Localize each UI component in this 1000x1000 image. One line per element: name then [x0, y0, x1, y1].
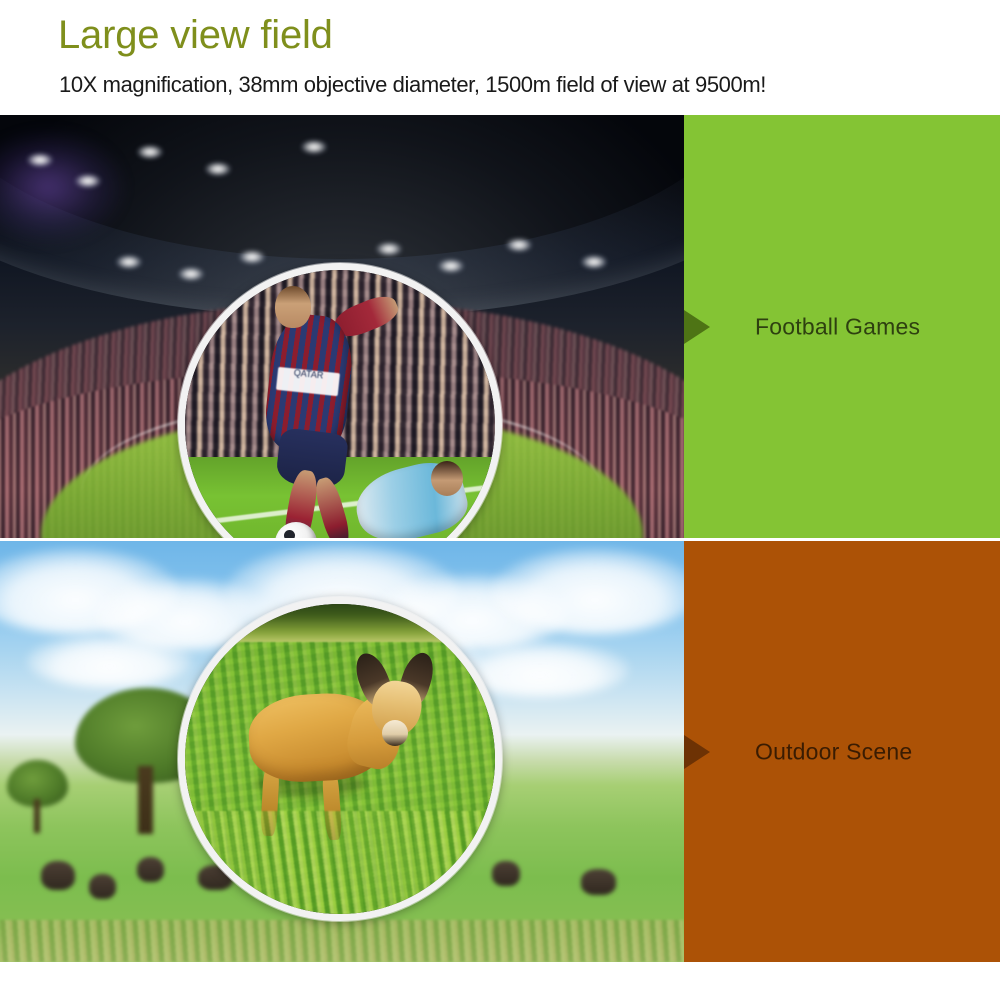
lens-foreground-grass	[178, 811, 502, 921]
arrow-right-icon	[684, 310, 710, 344]
grazing-animal	[137, 857, 164, 882]
floodlight	[116, 255, 142, 269]
defender-head	[431, 461, 463, 497]
magnified-lens-outdoor	[178, 597, 502, 921]
cloud	[27, 634, 191, 689]
lens-image-outdoor	[178, 597, 502, 921]
label-panel-outdoor: Outdoor Scene	[684, 541, 1000, 962]
grazing-animal	[41, 861, 75, 890]
header: Large view field 10X magnification, 38mm…	[0, 0, 1000, 115]
floodlight	[205, 162, 231, 176]
label-football-games: Football Games	[755, 313, 920, 340]
arrow-right-icon	[684, 735, 710, 769]
grazing-animal	[89, 874, 116, 899]
tree	[7, 760, 69, 832]
floodlight	[376, 242, 402, 256]
savanna-photo	[0, 541, 684, 962]
label-panel-football: Football Games	[684, 115, 1000, 538]
page-title: Large view field	[58, 14, 333, 56]
tree-trunk	[34, 799, 40, 833]
page-subtitle: 10X magnification, 38mm objective diamet…	[59, 72, 766, 98]
grazing-animal	[581, 869, 615, 894]
label-outdoor-scene: Outdoor Scene	[755, 738, 912, 765]
lens-image-football: QATAR	[178, 263, 502, 538]
stadium-photo: QATAR	[0, 115, 684, 538]
floodlight	[581, 255, 607, 269]
floodlight	[506, 238, 532, 252]
floodlight	[137, 145, 163, 159]
player-head	[275, 286, 311, 328]
foreground-grass-detail	[0, 920, 684, 962]
section-outdoor: Outdoor Scene	[0, 541, 1000, 962]
product-feature-graphic: Large view field 10X magnification, 38mm…	[0, 0, 1000, 1000]
section-football: QATAR Football Games	[0, 115, 1000, 538]
tree-trunk	[138, 766, 152, 835]
magnified-lens-football: QATAR	[178, 263, 502, 538]
grazing-animal	[492, 861, 519, 886]
deer-muzzle	[382, 720, 408, 746]
cloud	[492, 549, 684, 633]
